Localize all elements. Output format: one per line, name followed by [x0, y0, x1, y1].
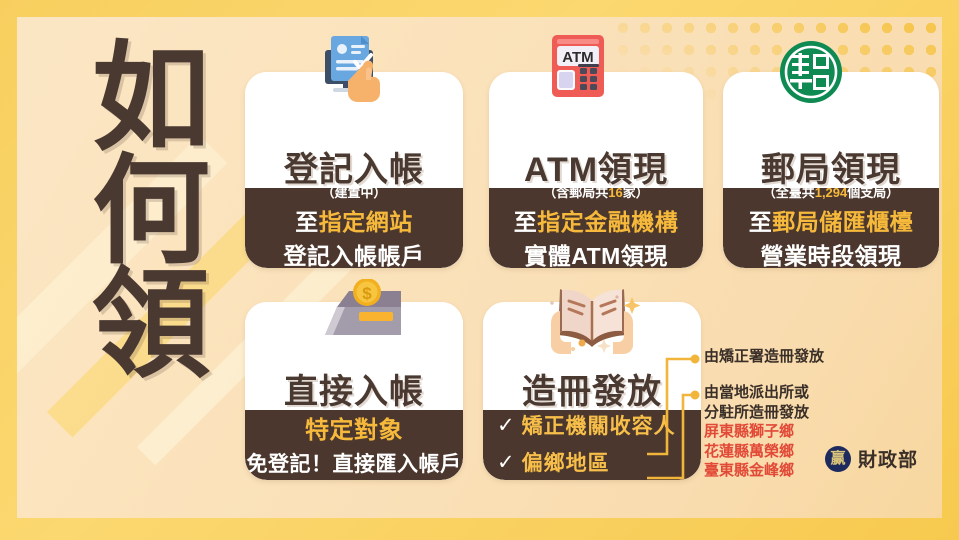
post-office-logo-icon	[778, 39, 844, 105]
card-direct-deposit-target: 特定對象	[305, 410, 403, 445]
card-post-office-panel: （全臺共1,294個支局） 至郵局儲匯櫃檯 營業時段領現	[723, 188, 939, 268]
card-direct-deposit-line2: 免登記！直接匯入帳戶	[247, 448, 462, 478]
line1-pre: 至	[749, 209, 773, 235]
poster-root: 如 何 領 登記入帳 （建置中）	[0, 0, 959, 540]
sub-prefix: （含郵局共	[543, 185, 608, 200]
annotation-line: 分駐所造冊發放	[704, 403, 824, 423]
check-item-remote-area[interactable]: ✓ 偏鄉地區	[497, 447, 610, 477]
page-title: 如 何 領	[61, 43, 241, 383]
check-icon: ✓	[497, 452, 515, 473]
annotation-group: 由矯正署造冊發放 由當地派出所或 分駐所造冊發放 屏東縣獅子鄉 花蓮縣萬榮鄉 臺…	[704, 347, 824, 481]
line1-highlight: 郵局儲匯櫃檯	[772, 209, 913, 235]
headline-char-1: 如	[61, 43, 241, 156]
card-direct-deposit-panel: 特定對象 免登記！直接匯入帳戶	[245, 410, 463, 480]
sub-prefix: （	[321, 185, 334, 200]
sub-text: 建置中	[334, 185, 373, 200]
check-label: 偏鄉地區	[522, 447, 610, 477]
sub-suffix: ）	[374, 185, 387, 200]
sub-suffix: 家）	[623, 185, 649, 200]
atm-machine-icon: ATM	[542, 33, 614, 105]
card-atm-panel: （含郵局共16家） 至指定金融機構 實體ATM領現	[489, 188, 703, 268]
headline-char-2: 何	[61, 156, 241, 269]
headline-char-3: 領	[61, 270, 241, 383]
annotation-township: 臺東縣金峰鄉	[704, 461, 824, 481]
annotation-corrections: 由矯正署造冊發放	[704, 347, 824, 367]
check-icon: ✓	[497, 415, 515, 436]
wallet-coin-icon: $	[315, 279, 411, 345]
annotation-township: 花蓮縣萬榮鄉	[704, 442, 824, 462]
sub-suffix: 個支局）	[847, 185, 899, 200]
annotation-local-police: 由當地派出所或 分駐所造冊發放 屏東縣獅子鄉 花蓮縣萬榮鄉 臺東縣金峰鄉	[704, 383, 824, 481]
annotation-line: 由當地派出所或	[704, 383, 824, 403]
sub-highlight: 1,294	[815, 185, 848, 200]
computer-document-hand-icon	[307, 32, 401, 104]
annotation-line: 由矯正署造冊發放	[704, 347, 824, 367]
card-atm-line1: 至指定金融機構	[514, 203, 679, 237]
card-register-line1: 至指定網站	[295, 203, 413, 237]
poster-inner-canvas: 如 何 領 登記入帳 （建置中）	[17, 17, 942, 518]
open-book-hands-icon	[538, 279, 646, 355]
card-atm-subtitle: （含郵局共16家）	[543, 182, 649, 201]
card-direct-deposit-title: 直接入帳	[284, 364, 424, 413]
card-post-office-subtitle: （全臺共1,294個支局）	[763, 182, 900, 201]
sub-prefix: （全臺共	[763, 185, 815, 200]
target-highlight: 特定對象	[305, 417, 403, 444]
annotation-township: 屏東縣獅子鄉	[704, 422, 824, 442]
ministry-of-finance-logo: 赢 財政部	[825, 445, 918, 472]
card-register-subtitle: （建置中）	[321, 182, 386, 201]
card-register-line2: 登記入帳帳戶	[284, 237, 425, 268]
line1-pre: 至	[514, 209, 538, 235]
line1-highlight: 指定網站	[319, 209, 413, 235]
line1-highlight: 指定金融機構	[537, 209, 678, 235]
line1-pre: 至	[295, 209, 319, 235]
card-register-panel: （建置中） 至指定網站 登記入帳帳戶	[245, 188, 463, 268]
card-atm-line2: 實體ATM領現	[524, 237, 668, 268]
ministry-name: 財政部	[858, 445, 918, 472]
svg-text:ATM: ATM	[562, 49, 593, 66]
card-post-office-line2: 營業時段領現	[761, 237, 902, 268]
svg-text:$: $	[362, 284, 372, 303]
mof-emblem-icon: 赢	[825, 446, 851, 472]
sub-highlight: 16	[608, 185, 622, 200]
card-post-office-line1: 至郵局儲匯櫃檯	[749, 203, 914, 237]
